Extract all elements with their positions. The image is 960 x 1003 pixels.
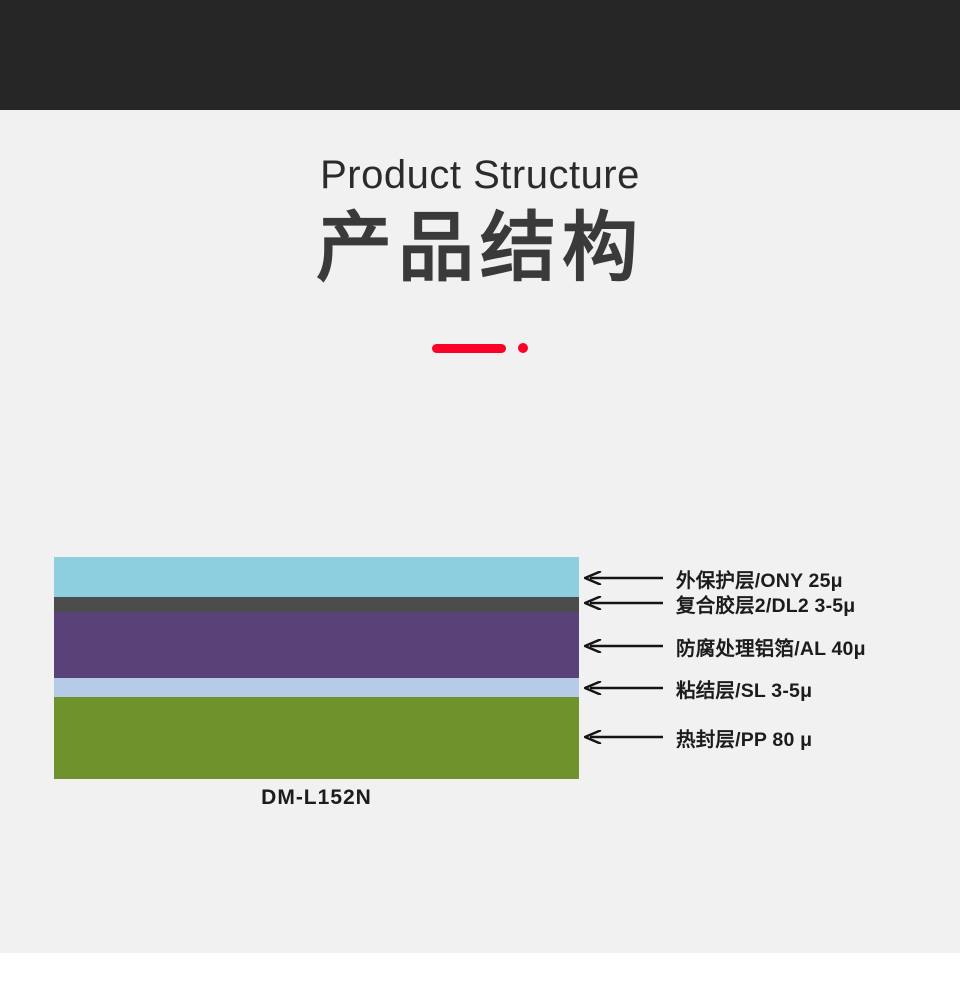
annotation-label-dl2: 复合胶层2/DL2 3-5μ bbox=[676, 589, 855, 618]
annotation-label-pp: 热封层/PP 80 μ bbox=[676, 723, 812, 752]
arrow-left-icon bbox=[584, 730, 663, 744]
layer-sl bbox=[54, 678, 579, 697]
page-title-english: Product Structure bbox=[0, 155, 960, 195]
accent-bar bbox=[432, 344, 506, 353]
product-code-caption: DM-L152N bbox=[54, 786, 579, 810]
annotation-row-dl2: 复合胶层2/DL2 3-5μ bbox=[584, 591, 855, 615]
annotation-row-sl: 粘结层/SL 3-5μ bbox=[584, 676, 812, 700]
page-title-chinese: 产品结构 bbox=[0, 205, 960, 292]
accent-divider bbox=[0, 340, 960, 356]
layer-pp bbox=[54, 697, 579, 779]
layer-dl2 bbox=[54, 597, 579, 612]
arrow-left-icon bbox=[584, 639, 663, 653]
annotation-row-al: 防腐处理铝箔/AL 40μ bbox=[584, 634, 866, 658]
layer-ony bbox=[54, 557, 579, 597]
accent-dot bbox=[518, 343, 528, 353]
arrow-left-icon bbox=[584, 681, 663, 695]
layer-stack-diagram bbox=[54, 557, 579, 779]
arrow-left-icon bbox=[584, 571, 663, 585]
product-structure-page: Product Structure 产品结构 DM-L152N 外保护层/ONY… bbox=[0, 0, 960, 1003]
annotation-row-pp: 热封层/PP 80 μ bbox=[584, 725, 812, 749]
arrow-left-icon bbox=[584, 596, 663, 610]
top-dark-banner bbox=[0, 0, 960, 110]
layer-al bbox=[54, 612, 579, 678]
annotation-row-ony: 外保护层/ONY 25μ bbox=[584, 566, 843, 590]
annotation-label-sl: 粘结层/SL 3-5μ bbox=[676, 674, 812, 703]
annotation-label-al: 防腐处理铝箔/AL 40μ bbox=[676, 632, 866, 661]
